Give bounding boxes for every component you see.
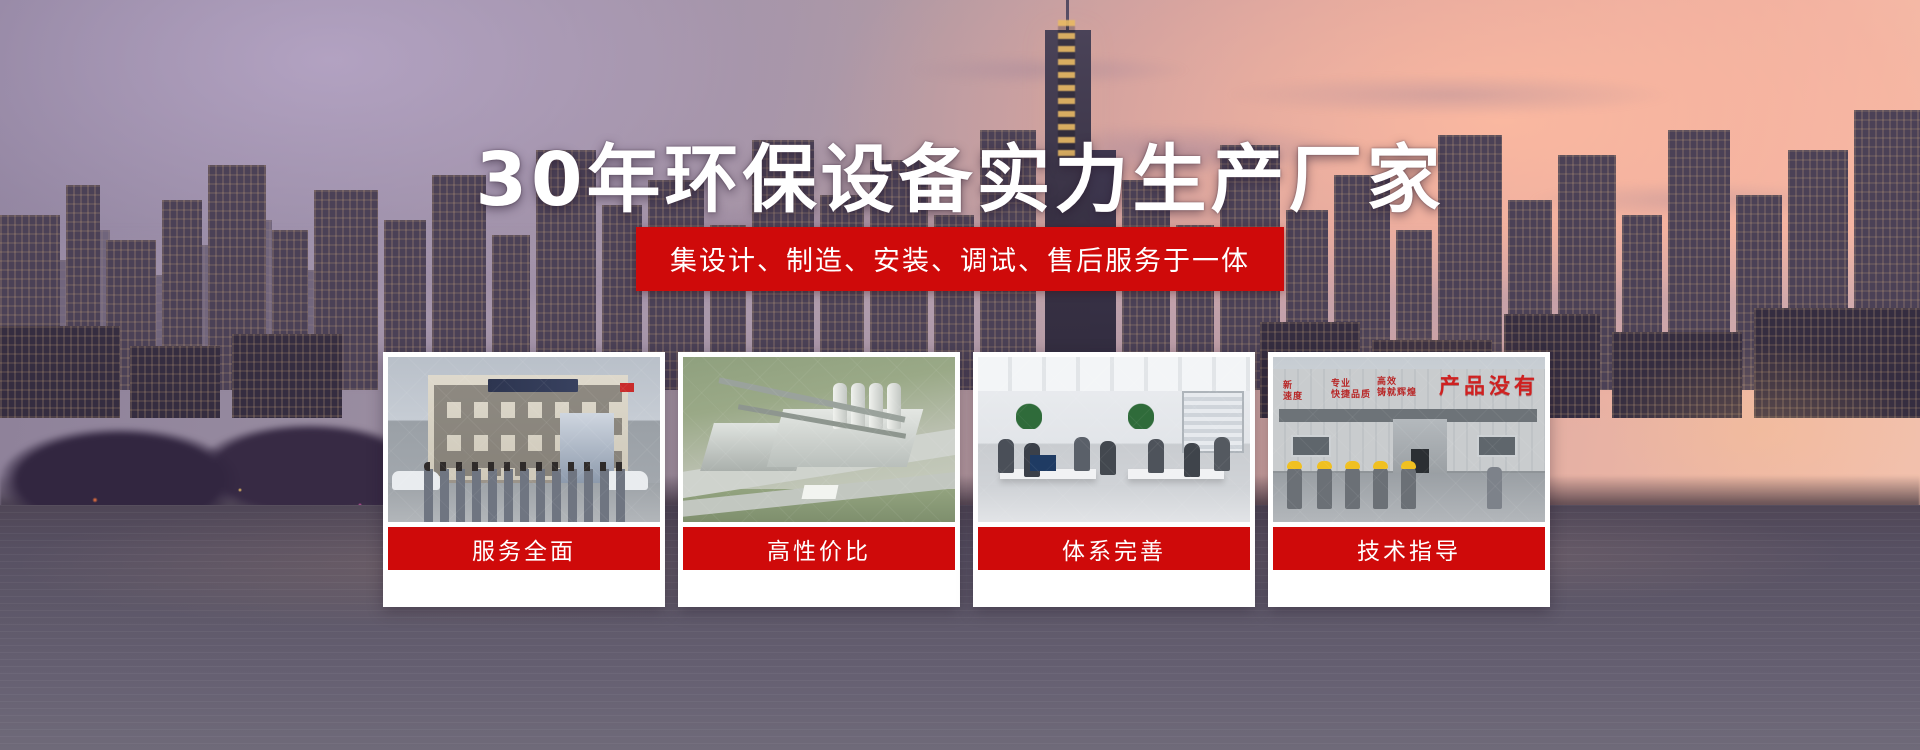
factory-wall-banner-text: 产品没有 [1399, 373, 1539, 399]
feature-card-label: 高性价比 [683, 527, 955, 570]
factory-slogan-left: 新速度 [1283, 381, 1303, 403]
banner-content: 30年环保设备实力生产厂家 集设计、制造、安装、调试、售后服务于一体 服务全面 [0, 0, 1920, 750]
banner-headline: 30年环保设备实力生产厂家 [0, 120, 1920, 227]
feature-card-label: 服务全面 [388, 527, 660, 570]
factory-slogan-mid: 专业快捷品质 [1331, 379, 1371, 401]
hero-banner: 30年环保设备实力生产厂家 集设计、制造、安装、调试、售后服务于一体 服务全面 [0, 0, 1920, 750]
feature-card[interactable]: 新速度 专业快捷品质 高效铸就辉煌 产品没有 技术指导 [1268, 352, 1550, 607]
feature-card-list: 服务全面 高性价比 [383, 352, 1537, 607]
banner-subtitle-wrap: 集设计、制造、安装、调试、售后服务于一体 [0, 227, 1920, 291]
building-sign [488, 379, 578, 392]
banner-subtitle-badge: 集设计、制造、安装、调试、售后服务于一体 [636, 227, 1284, 291]
card-photo-company-building [388, 357, 660, 522]
feature-card-label: 技术指导 [1273, 527, 1545, 570]
card-photo-factory-workers: 新速度 专业快捷品质 高效铸就辉煌 产品没有 [1273, 357, 1545, 522]
card-photo-industrial-plant [683, 357, 955, 522]
feature-card[interactable]: 服务全面 [383, 352, 665, 607]
feature-card[interactable]: 体系完善 [973, 352, 1255, 607]
card-photo-office-meeting [978, 357, 1250, 522]
feature-card[interactable]: 高性价比 [678, 352, 960, 607]
feature-card-label: 体系完善 [978, 527, 1250, 570]
